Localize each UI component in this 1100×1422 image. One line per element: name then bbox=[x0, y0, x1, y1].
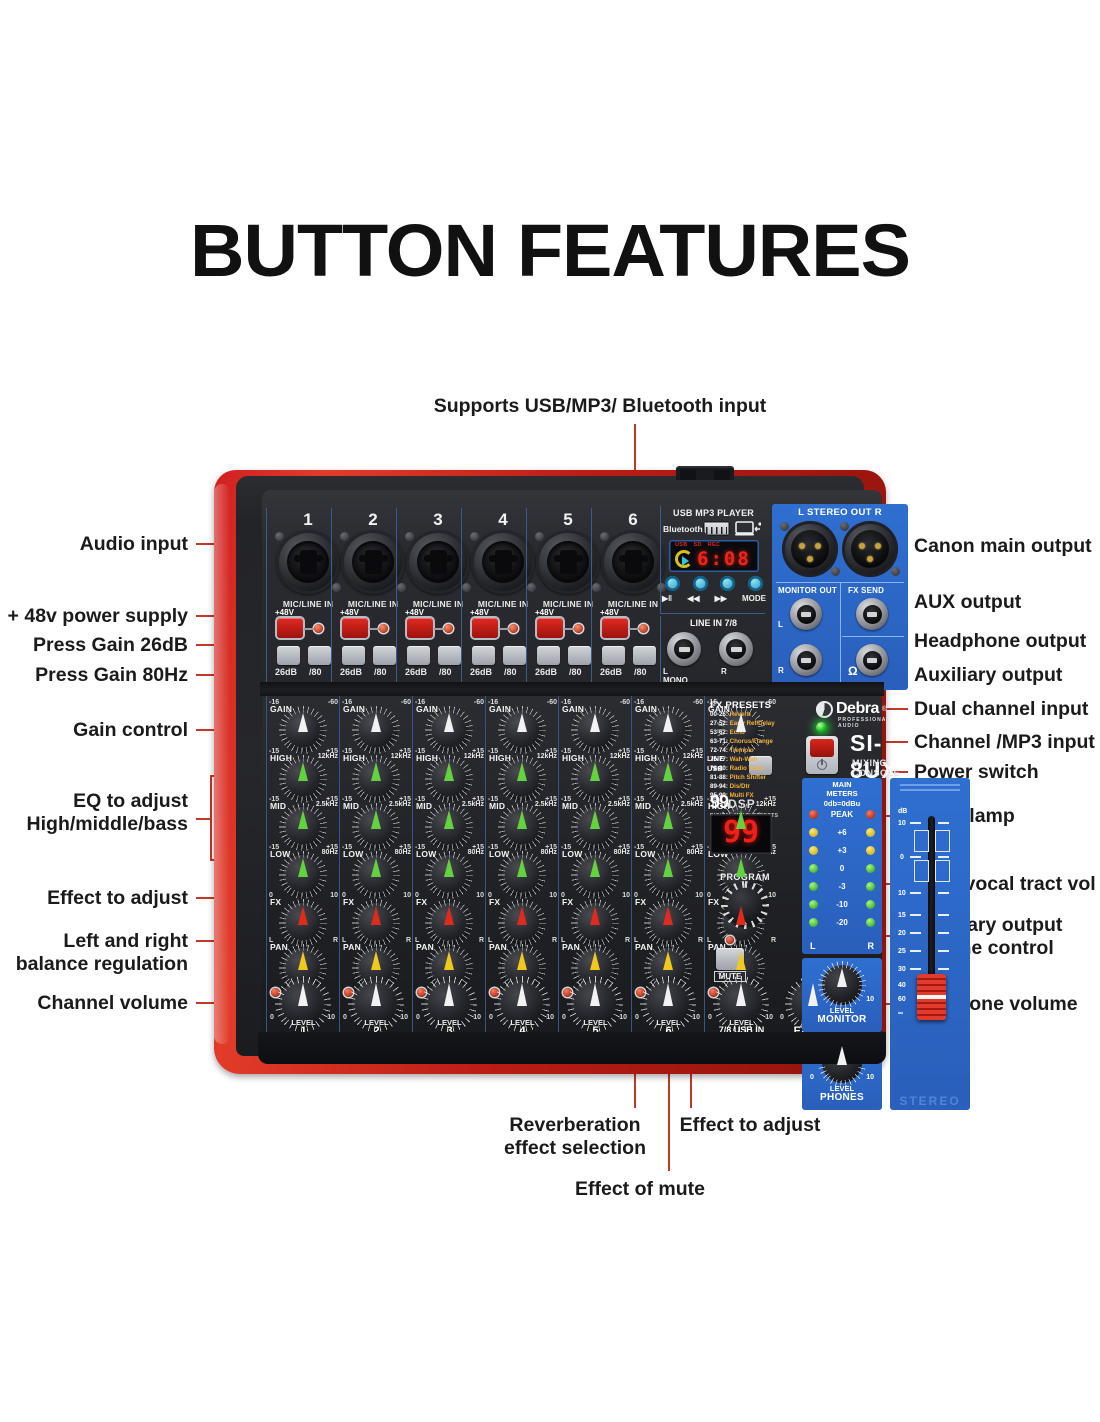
next-label: ▶▶ bbox=[715, 594, 727, 603]
xlr-bore bbox=[482, 541, 524, 583]
fader-tick bbox=[910, 856, 921, 858]
gain-max-label: -60 bbox=[693, 699, 703, 706]
gain-knob[interactable] bbox=[648, 710, 688, 750]
hpf-label: /80 bbox=[309, 667, 322, 677]
gain-max-label: -60 bbox=[547, 699, 557, 706]
low-min-label: -15 bbox=[634, 844, 644, 851]
xlr-pin-icon bbox=[859, 543, 865, 549]
fx-min-label: 0 bbox=[634, 892, 638, 899]
main-meters: MAIN METERS 0db=0dBu PEAK +6 +3 bbox=[802, 778, 882, 954]
screw-icon bbox=[275, 532, 284, 541]
dsp-word: DSP bbox=[728, 797, 756, 811]
mp3-player-title: USB MP3 PLAYER bbox=[661, 508, 766, 518]
pan-max-label: R bbox=[333, 937, 338, 944]
xlr-pin-icon bbox=[867, 556, 873, 562]
meter-row-peak: PEAK bbox=[802, 810, 882, 819]
callout-eq-adjust: EQ to adjust High/middle/bass bbox=[0, 790, 188, 836]
low-max-label: +15 bbox=[326, 844, 338, 851]
xlr-slot bbox=[495, 550, 512, 574]
monitor-out-right-jack[interactable] bbox=[790, 644, 822, 676]
gain-pad-label: 26dB bbox=[340, 667, 362, 677]
hpf-button[interactable] bbox=[633, 646, 656, 665]
fx-min-label: 0 bbox=[488, 892, 492, 899]
phantom-power-button[interactable] bbox=[537, 618, 563, 638]
pan-max-label: R bbox=[406, 937, 411, 944]
gain-min-label: -16 bbox=[488, 699, 498, 706]
line-in-left-jack[interactable] bbox=[667, 632, 701, 666]
power-switch-cap bbox=[810, 739, 834, 757]
pan-min-label: L bbox=[634, 937, 638, 944]
fader-vent-lines bbox=[900, 784, 960, 794]
low-min-label: -15 bbox=[488, 844, 498, 851]
xlr-pin-icon bbox=[815, 543, 821, 549]
phantom-power-button[interactable] bbox=[277, 618, 303, 638]
fx-max-label: 10 bbox=[549, 892, 557, 899]
fader-cap-indicator bbox=[917, 995, 946, 999]
callout-canon-main-output: Canon main output bbox=[914, 535, 1100, 558]
headphone-jack[interactable] bbox=[856, 644, 888, 676]
mid-max-label: +15 bbox=[618, 796, 630, 803]
xlr-pin-icon bbox=[807, 556, 813, 562]
fx-max-label: 10 bbox=[476, 892, 484, 899]
gain-max-label: -60 bbox=[328, 699, 338, 706]
meter-led-left bbox=[809, 864, 818, 873]
line-in-right-jack[interactable] bbox=[719, 632, 753, 666]
pan-max-label: R bbox=[698, 937, 703, 944]
callout-dual-channel-input: Dual channel input bbox=[914, 698, 1100, 721]
meter-led-right bbox=[866, 810, 875, 819]
meter-led-right bbox=[866, 900, 875, 909]
phantom-led-icon bbox=[444, 624, 453, 633]
gain-knob[interactable] bbox=[429, 710, 469, 750]
meter-led-right bbox=[866, 828, 875, 837]
fader-tick bbox=[938, 822, 949, 824]
gain-knob[interactable] bbox=[575, 710, 615, 750]
low-max-label: +15 bbox=[399, 844, 411, 851]
pan-max-label: R bbox=[771, 937, 776, 944]
channel-strip-2: GAIN -16 -60 HIGH 12kHz -15 +15 MID 2.5k… bbox=[339, 696, 412, 1034]
gain-pad-label: 26dB bbox=[470, 667, 492, 677]
meter-led-left bbox=[809, 918, 818, 927]
callout-phantom-power: + 48v power supply bbox=[0, 605, 188, 628]
low-eq-knob[interactable] bbox=[429, 855, 469, 895]
mute-led-icon bbox=[726, 936, 734, 944]
fx-knob[interactable] bbox=[429, 903, 469, 943]
high-max-label: +15 bbox=[618, 748, 630, 755]
screw-icon bbox=[535, 532, 544, 541]
low-eq-knob[interactable] bbox=[356, 855, 396, 895]
pan-min-label: L bbox=[707, 937, 711, 944]
fx-send-jack[interactable] bbox=[856, 598, 888, 630]
fx-presets-list: FX PRESETS 00-26: Reverb 27-52: Early Re… bbox=[710, 700, 798, 801]
fader-tick bbox=[938, 892, 949, 894]
pan-max-label: R bbox=[479, 937, 484, 944]
mid-eq-knob[interactable] bbox=[283, 807, 323, 847]
gain-pad-label: 26dB bbox=[535, 667, 557, 677]
high-min-label: -15 bbox=[634, 748, 644, 755]
monitor-left-label: L bbox=[778, 620, 783, 629]
pan-min-label: L bbox=[488, 937, 492, 944]
phantom-power-button[interactable] bbox=[407, 618, 433, 638]
meter-row-plus6: +6 bbox=[802, 828, 882, 837]
meter-led-left bbox=[809, 846, 818, 855]
low-eq-knob[interactable] bbox=[575, 855, 615, 895]
fx-max-label: 10 bbox=[330, 892, 338, 899]
hpf-label: /80 bbox=[504, 667, 517, 677]
hpf-label: /80 bbox=[374, 667, 387, 677]
fader-tick bbox=[910, 822, 921, 824]
hpf-label: /80 bbox=[569, 667, 582, 677]
debra-logo-icon bbox=[816, 701, 833, 718]
fader-unit-label: dB bbox=[898, 808, 907, 815]
pan-min-label: L bbox=[561, 937, 565, 944]
monitor-level-knob[interactable] bbox=[822, 965, 862, 1005]
phantom-label: +48V bbox=[535, 608, 554, 617]
mode-button[interactable] bbox=[748, 576, 763, 591]
monitor-out-label: MONITOR OUT bbox=[778, 586, 837, 595]
fader-tick bbox=[910, 892, 921, 894]
brand-name: Debra bbox=[836, 700, 879, 718]
callout-effect-adjust-2: Effect to adjust bbox=[655, 1114, 845, 1137]
low-min-label: -15 bbox=[342, 844, 352, 851]
meter-led-right bbox=[866, 864, 875, 873]
xlr-combo-jack[interactable] bbox=[601, 530, 665, 594]
pan-min-label: L bbox=[415, 937, 419, 944]
fx-min-label: 0 bbox=[342, 892, 346, 899]
high-eq-knob[interactable] bbox=[283, 759, 323, 799]
gain-pad-button[interactable] bbox=[277, 646, 300, 665]
brand-row: Debra ® bbox=[816, 700, 887, 718]
power-switch-button[interactable] bbox=[806, 736, 838, 774]
fader-tick bbox=[938, 856, 949, 858]
meter-row-zero: 0 bbox=[802, 864, 882, 873]
phantom-power-button[interactable] bbox=[602, 618, 628, 638]
high-max-label: +15 bbox=[326, 748, 338, 755]
brand-subtitle: PROFESSIONAL AUDIO bbox=[838, 717, 912, 729]
phones-name: PHONES bbox=[802, 1092, 882, 1103]
low-max-label: +15 bbox=[691, 844, 703, 851]
callout-headphone-output: Headphone output bbox=[914, 630, 1100, 653]
fader-scale-40: 40 bbox=[898, 982, 906, 989]
screw-icon bbox=[405, 532, 414, 541]
gain-pad-button[interactable] bbox=[602, 646, 625, 665]
phantom-power-button[interactable] bbox=[472, 618, 498, 638]
hpf-button[interactable] bbox=[438, 646, 461, 665]
mid-max-label: +15 bbox=[691, 796, 703, 803]
fader-tick bbox=[938, 932, 949, 934]
gain-min-label: -16 bbox=[415, 699, 425, 706]
pan-max-label: R bbox=[625, 937, 630, 944]
model-subtitle: MIXING CONSOLE bbox=[852, 758, 912, 778]
output-divider-v bbox=[840, 582, 841, 686]
gain-knob[interactable] bbox=[502, 710, 542, 750]
phones-min-label: 0 bbox=[810, 1074, 814, 1081]
xlr-bore bbox=[547, 541, 589, 583]
previous-label: ◀◀ bbox=[687, 594, 699, 603]
low-eq-knob[interactable] bbox=[648, 855, 688, 895]
stereo-fader-label: STEREO bbox=[890, 1094, 970, 1108]
line-in-title: LINE IN 7/8 bbox=[661, 618, 766, 628]
mp3-button-labels: ▶‖ ◀◀ ▶▶ MODE bbox=[662, 594, 766, 603]
mid-eq-knob[interactable] bbox=[648, 807, 688, 847]
mid-min-label: -15 bbox=[634, 796, 644, 803]
fader-tick bbox=[910, 932, 921, 934]
mid-min-label: -15 bbox=[269, 796, 279, 803]
phantom-led-icon bbox=[574, 624, 583, 633]
callout-balance: Left and right balance regulation bbox=[0, 930, 188, 976]
fader-tick bbox=[910, 968, 921, 970]
main-stereo-fader: dB 10 0 10 15 20 25 30 bbox=[890, 778, 970, 1110]
fx-preset-item: 27-52: Early Ref/Delay bbox=[710, 720, 798, 729]
fader-scale-25: 25 bbox=[898, 948, 906, 955]
low-min-label: -15 bbox=[561, 844, 571, 851]
low-min-label: -15 bbox=[269, 844, 279, 851]
meter-right-label: R bbox=[868, 941, 875, 951]
meters-title: MAIN METERS 0db=0dBu bbox=[802, 780, 882, 808]
fader-scale-20: 20 bbox=[898, 930, 906, 937]
high-eq-knob[interactable] bbox=[429, 759, 469, 799]
xlr-bore bbox=[417, 541, 459, 583]
page-title: BUTTON FEATURES bbox=[0, 208, 1100, 293]
usb-mp3-player: USB MP3 PLAYER Bluetooth USB SD REC bbox=[660, 506, 765, 614]
fx-min-label: 0 bbox=[561, 892, 565, 899]
play-pause-label: ▶‖ bbox=[662, 594, 672, 603]
mid-max-label: +15 bbox=[399, 796, 411, 803]
meter-left-label: L bbox=[810, 941, 816, 951]
gain-max-label: -60 bbox=[401, 699, 411, 706]
low-eq-knob[interactable] bbox=[502, 855, 542, 895]
output-divider-h2 bbox=[842, 636, 904, 637]
bluetooth-label: Bluetooth bbox=[663, 524, 703, 534]
gain-knob[interactable] bbox=[283, 710, 323, 750]
mixer-console: 1 MIC/LINE IN +48V 26dB /80 2 bbox=[214, 470, 886, 1074]
mid-min-label: -15 bbox=[342, 796, 352, 803]
mode-label: MODE bbox=[742, 594, 766, 603]
lcd-time-value: 6:08 bbox=[697, 548, 751, 570]
fx-max-label: 10 bbox=[403, 892, 411, 899]
callout-auxiliary-output: Auxiliary output bbox=[914, 664, 1100, 687]
pan-max-label: R bbox=[552, 937, 557, 944]
fx-preset-item: 81-88: Pitch Shifter bbox=[710, 774, 798, 783]
fx-knob[interactable] bbox=[575, 903, 615, 943]
high-max-label: +15 bbox=[545, 748, 557, 755]
fader-scale-15: 15 bbox=[898, 912, 906, 919]
fx-preset-item: 53-62: Echo bbox=[710, 729, 798, 738]
hpf-label: /80 bbox=[439, 667, 452, 677]
chassis-black-body: 1 MIC/LINE IN +48V 26dB /80 2 bbox=[236, 476, 864, 1056]
fx-preset-item: 63-71: Chorus/Flange bbox=[710, 738, 798, 747]
fader-scale-60: 60 bbox=[898, 996, 906, 1003]
xlr-slot bbox=[560, 550, 577, 574]
gain-pad-button[interactable] bbox=[472, 646, 495, 665]
phantom-label: +48V bbox=[405, 608, 424, 617]
fx-preset-item: 89-94: Dis/Dtr bbox=[710, 783, 798, 792]
fx-preset-item: 75-77: Wah-Wah bbox=[710, 756, 798, 765]
high-min-label: -15 bbox=[342, 748, 352, 755]
fader-scale-10: 10 bbox=[898, 820, 906, 827]
fx-presets-title: FX PRESETS bbox=[710, 700, 798, 711]
fx-knob[interactable] bbox=[502, 903, 542, 943]
panel-divider bbox=[260, 682, 884, 696]
channel-strip-1: GAIN -16 -60 HIGH 12kHz -15 +15 MID 2.5k… bbox=[266, 696, 339, 1034]
registered-mark: ® bbox=[882, 706, 887, 713]
fx-preset-item: 00-26: Reverb bbox=[710, 711, 798, 720]
phantom-led-icon bbox=[509, 624, 518, 633]
fx-max-label: 10 bbox=[622, 892, 630, 899]
headphone-icon: Ω bbox=[848, 664, 858, 678]
gain-pad-label: 26dB bbox=[405, 667, 427, 677]
gain-pad-button[interactable] bbox=[407, 646, 430, 665]
screw-icon bbox=[470, 532, 479, 541]
pan-min-label: L bbox=[269, 937, 273, 944]
callout-gain-control: Gain control bbox=[0, 719, 188, 742]
low-max-label: +15 bbox=[472, 844, 484, 851]
hpf-button[interactable] bbox=[503, 646, 526, 665]
xlr-slot bbox=[430, 550, 447, 574]
screw-icon bbox=[340, 532, 349, 541]
lcd-flag-usb: USB bbox=[675, 542, 688, 548]
high-min-label: -15 bbox=[269, 748, 279, 755]
high-eq-knob[interactable] bbox=[356, 759, 396, 799]
fader-cap-handle[interactable] bbox=[917, 974, 946, 1020]
mid-max-label: +15 bbox=[545, 796, 557, 803]
fx-knob[interactable] bbox=[356, 903, 396, 943]
mid-min-label: -15 bbox=[488, 796, 498, 803]
meter-scale-label: -3 bbox=[838, 882, 845, 891]
sd-card-icon bbox=[703, 521, 730, 536]
low-min-label: -15 bbox=[415, 844, 425, 851]
chassis-bottom-lip bbox=[258, 1032, 886, 1064]
mp3-transport-buttons bbox=[665, 576, 763, 591]
callout-aux-output: AUX output bbox=[914, 591, 1100, 614]
phones-max-label: 10 bbox=[866, 1074, 874, 1081]
phantom-led-icon bbox=[379, 624, 388, 633]
power-led-icon bbox=[816, 722, 827, 733]
fader-scale-inf: ∞ bbox=[898, 1010, 903, 1017]
high-eq-knob[interactable] bbox=[575, 759, 615, 799]
high-min-label: -15 bbox=[488, 748, 498, 755]
mid-eq-knob[interactable] bbox=[356, 807, 396, 847]
meter-scale-label: -20 bbox=[836, 918, 848, 927]
fader-tick bbox=[910, 950, 921, 952]
mid-min-label: -15 bbox=[415, 796, 425, 803]
phantom-label: +48V bbox=[340, 608, 359, 617]
phantom-label: +48V bbox=[470, 608, 489, 617]
fader-tick bbox=[938, 968, 949, 970]
line-in-right-label: R bbox=[721, 668, 727, 677]
hpf-button[interactable] bbox=[373, 646, 396, 665]
callout-channel-volume: Channel volume bbox=[0, 992, 188, 1015]
callout-gain-26db: Press Gain 26dB bbox=[0, 634, 188, 657]
callout-usb-mp3-bt: Supports USB/MP3/ Bluetooth input bbox=[350, 395, 850, 418]
channel-strip-4: GAIN -16 -60 HIGH 12kHz -15 +15 MID 2.5k… bbox=[485, 696, 558, 1034]
high-eq-knob[interactable] bbox=[648, 759, 688, 799]
high-min-label: -15 bbox=[561, 748, 571, 755]
screw-icon bbox=[891, 567, 900, 576]
gain-min-label: -16 bbox=[561, 699, 571, 706]
next-button[interactable] bbox=[720, 576, 735, 591]
xlr-bore bbox=[287, 541, 329, 583]
fader-scale-10b: 10 bbox=[898, 890, 906, 897]
meter-scale-label: -10 bbox=[836, 900, 848, 909]
phantom-power-button[interactable] bbox=[342, 618, 368, 638]
channel-strip-6: GAIN -16 -60 HIGH 12kHz -15 +15 MID 2.5k… bbox=[631, 696, 704, 1034]
meter-scale-label: +6 bbox=[837, 828, 846, 837]
gain-pad-label: 26dB bbox=[275, 667, 297, 677]
line-in-78-section: LINE IN 7/8 L MONO R bbox=[660, 616, 765, 688]
low-eq-knob[interactable] bbox=[283, 855, 323, 895]
xlr-slot bbox=[300, 550, 317, 574]
fx-send-label: FX SEND bbox=[848, 586, 884, 595]
mute-label: MUTE bbox=[714, 971, 746, 982]
gain-pad-button[interactable] bbox=[537, 646, 560, 665]
hpf-button[interactable] bbox=[308, 646, 331, 665]
fx-preset-item: 72-74: Tremolo bbox=[710, 747, 798, 756]
gain-pad-button[interactable] bbox=[342, 646, 365, 665]
hpf-button[interactable] bbox=[568, 646, 591, 665]
callout-effect-mute: Effect of mute bbox=[530, 1178, 750, 1201]
dsp-count: 99 bbox=[710, 792, 728, 812]
monitor-right-label: R bbox=[778, 666, 784, 675]
fader-scale-30: 30 bbox=[898, 966, 906, 973]
gain-pad-label: 26dB bbox=[600, 667, 622, 677]
fader-scale-0: 0 bbox=[900, 854, 904, 861]
low-max-label: +15 bbox=[545, 844, 557, 851]
mid-max-label: +15 bbox=[472, 796, 484, 803]
stereo-out-left-xlr[interactable] bbox=[782, 521, 838, 577]
rear-mount-nub bbox=[676, 466, 734, 480]
mid-eq-knob[interactable] bbox=[429, 807, 469, 847]
callout-effect-adjust: Effect to adjust bbox=[0, 887, 188, 910]
monitor-out-left-jack[interactable] bbox=[790, 598, 822, 630]
meter-led-left bbox=[809, 810, 818, 819]
pan-min-label: L bbox=[342, 937, 346, 944]
mid-eq-knob[interactable] bbox=[502, 807, 542, 847]
xlr-bore bbox=[352, 541, 394, 583]
meter-row-plus3: +3 bbox=[802, 846, 882, 855]
meter-led-left bbox=[809, 882, 818, 891]
hpf-label: /80 bbox=[634, 667, 647, 677]
fx-knob[interactable] bbox=[283, 903, 323, 943]
stereo-out-right-xlr[interactable] bbox=[842, 521, 898, 577]
phantom-label: +48V bbox=[275, 608, 294, 617]
fader-tick bbox=[910, 914, 921, 916]
fx-max-label: 10 bbox=[695, 892, 703, 899]
high-eq-knob[interactable] bbox=[502, 759, 542, 799]
channel-strip-3: GAIN -16 -60 HIGH 12kHz -15 +15 MID 2.5k… bbox=[412, 696, 485, 1034]
stereo-out-title: L STEREO OUT R bbox=[772, 507, 908, 518]
fx-knob[interactable] bbox=[648, 903, 688, 943]
usb-icon bbox=[735, 520, 761, 537]
meter-row-minus10: -10 bbox=[802, 900, 882, 909]
previous-button[interactable] bbox=[693, 576, 708, 591]
gain-max-label: -60 bbox=[620, 699, 630, 706]
gain-min-label: -16 bbox=[269, 699, 279, 706]
meter-row-minus20: -20 bbox=[802, 918, 882, 927]
power-symbol-icon bbox=[817, 760, 827, 770]
output-panel: L STEREO OUT R MONITOR OUT bbox=[772, 504, 908, 690]
play-pause-button[interactable] bbox=[665, 576, 680, 591]
xlr-bore bbox=[612, 541, 654, 583]
fx-max-label: 10 bbox=[768, 892, 776, 899]
mid-eq-knob[interactable] bbox=[575, 807, 615, 847]
low-max-label: +15 bbox=[618, 844, 630, 851]
meter-led-left bbox=[809, 828, 818, 837]
gain-knob[interactable] bbox=[356, 710, 396, 750]
meter-scale-label: 0 bbox=[840, 864, 844, 873]
monitor-name: MONITOR bbox=[802, 1014, 882, 1025]
screw-icon bbox=[780, 522, 789, 531]
